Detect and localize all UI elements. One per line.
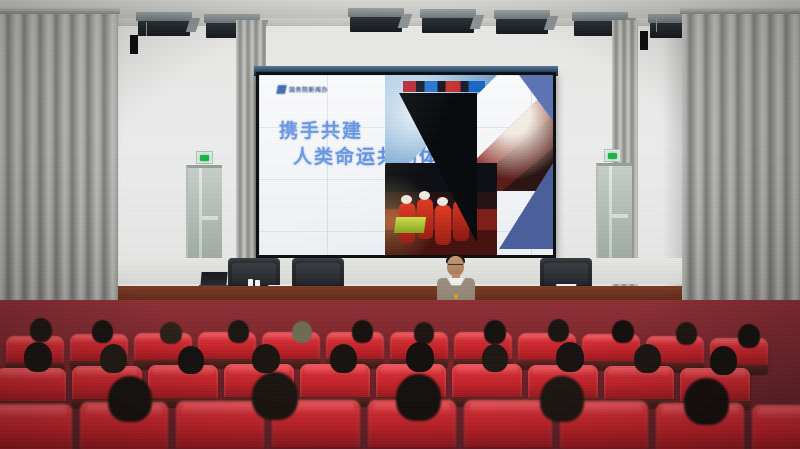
seat[interactable] xyxy=(176,401,264,449)
collage-blue-triangle xyxy=(499,163,553,249)
ceiling-ac-unit xyxy=(420,9,476,35)
line-array-speaker xyxy=(130,36,164,54)
seat[interactable] xyxy=(464,400,552,448)
seat[interactable] xyxy=(0,368,66,404)
ceiling-ac-unit xyxy=(494,10,550,36)
lapel-badge-icon xyxy=(454,294,458,299)
side-curtain-right xyxy=(682,8,800,344)
logo-mark-icon xyxy=(276,85,287,94)
ceiling-ac-unit xyxy=(348,8,404,34)
line-array-speaker xyxy=(640,32,674,50)
curtain-rod-right xyxy=(680,8,800,14)
ceiling-ac-unit xyxy=(136,12,192,38)
exit-sign-right xyxy=(604,149,621,162)
collage-dark-triangle xyxy=(399,93,477,243)
slide-logo: 国务院新闻办 xyxy=(277,85,328,94)
collage-blue-triangle-top xyxy=(519,75,553,129)
slide-photo-collage xyxy=(385,75,553,255)
seat[interactable] xyxy=(752,405,800,449)
seat[interactable] xyxy=(0,404,72,449)
presentation-screen[interactable]: 国务院新闻办 携手共建 人类命运共同体 xyxy=(259,75,553,255)
exit-sign-left xyxy=(196,151,213,164)
glasses-icon xyxy=(448,264,463,268)
side-curtain-left xyxy=(0,8,118,344)
slide-logo-text: 国务院新闻办 xyxy=(289,85,328,94)
lecture-hall-photo: 国务院新闻办 携手共建 人类命运共同体 xyxy=(0,0,800,449)
curtain-rod-left xyxy=(0,8,120,14)
